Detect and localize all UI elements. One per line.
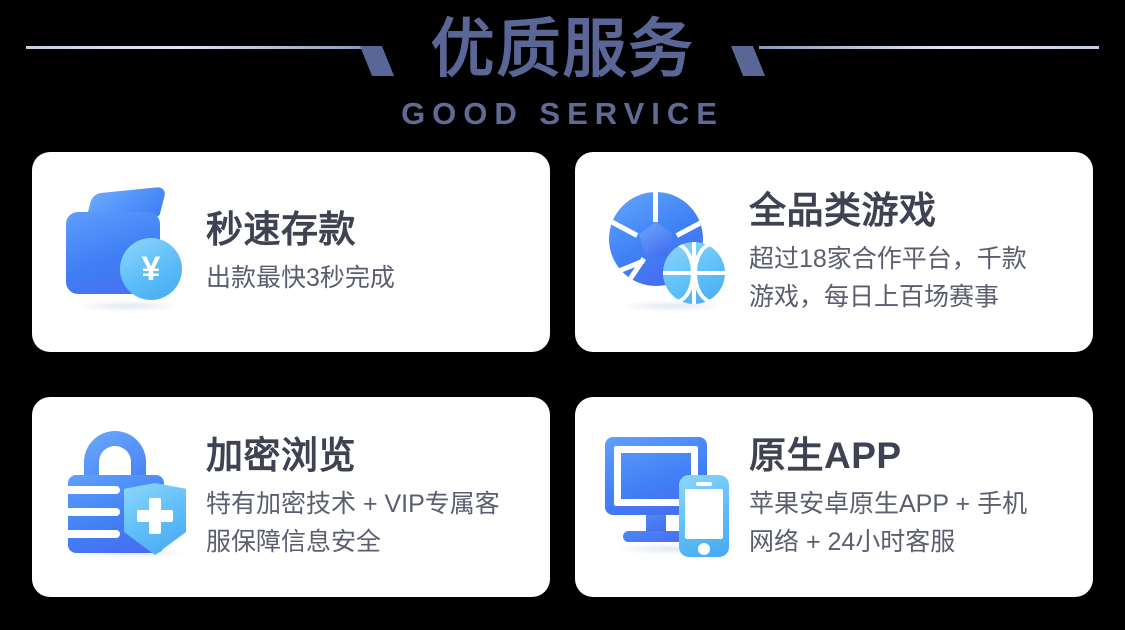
page-subtitle: GOOD SERVICE [0,96,1125,132]
feature-card-native-app[interactable]: 原生APP 苹果安卓原生APP + 手机 网络 + 24小时客服 [575,397,1093,597]
card-description-line: 出款最快3秒完成 [206,259,540,297]
lock-shield-icon [58,427,198,567]
card-title: 秒速存款 [206,207,540,253]
feature-card-encryption[interactable]: 加密浏览 特有加密技术 + VIP专属客 服保障信息安全 [32,397,550,597]
smartphone-icon [679,475,729,557]
icon-shadow [74,300,184,312]
card-description-line: 特有加密技术 + VIP专属客 [206,485,540,523]
card-description-line: 网络 + 24小时客服 [749,523,1083,561]
card-description: 特有加密技术 + VIP专属客 服保障信息安全 [206,485,540,561]
feature-card-grid: ¥ 秒速存款 出款最快3秒完成 [32,152,1093,597]
card-description: 苹果安卓原生APP + 手机 网络 + 24小时客服 [749,485,1083,561]
feature-card-games[interactable]: 全品类游戏 超过18家合作平台，千款 游戏，每日上百场赛事 [575,152,1093,352]
card-title: 加密浏览 [206,433,540,479]
card-title: 原生APP [749,433,1083,479]
basketball-icon [663,242,725,304]
page-header: 优质服务 GOOD SERVICE [0,0,1125,150]
card-text-block: 原生APP 苹果安卓原生APP + 手机 网络 + 24小时客服 [749,433,1083,561]
card-description: 出款最快3秒完成 [206,259,540,297]
card-text-block: 全品类游戏 超过18家合作平台，千款 游戏，每日上百场赛事 [749,188,1083,316]
card-description-line: 超过18家合作平台，千款 [749,240,1083,278]
card-description-line: 服保障信息安全 [206,523,540,561]
monitor-phone-icon [601,427,741,567]
wallet-yen-icon: ¥ [58,182,198,322]
card-text-block: 加密浏览 特有加密技术 + VIP专属客 服保障信息安全 [206,433,540,561]
card-description-line: 游戏，每日上百场赛事 [749,278,1083,316]
feature-card-deposit[interactable]: ¥ 秒速存款 出款最快3秒完成 [32,152,550,352]
card-description-line: 苹果安卓原生APP + 手机 [749,485,1083,523]
page-title: 优质服务 [0,10,1125,88]
soccer-basketball-icon [601,182,741,322]
yen-coin-icon: ¥ [120,238,182,300]
card-description: 超过18家合作平台，千款 游戏，每日上百场赛事 [749,240,1083,316]
card-text-block: 秒速存款 出款最快3秒完成 [206,207,540,297]
card-title: 全品类游戏 [749,188,1083,234]
